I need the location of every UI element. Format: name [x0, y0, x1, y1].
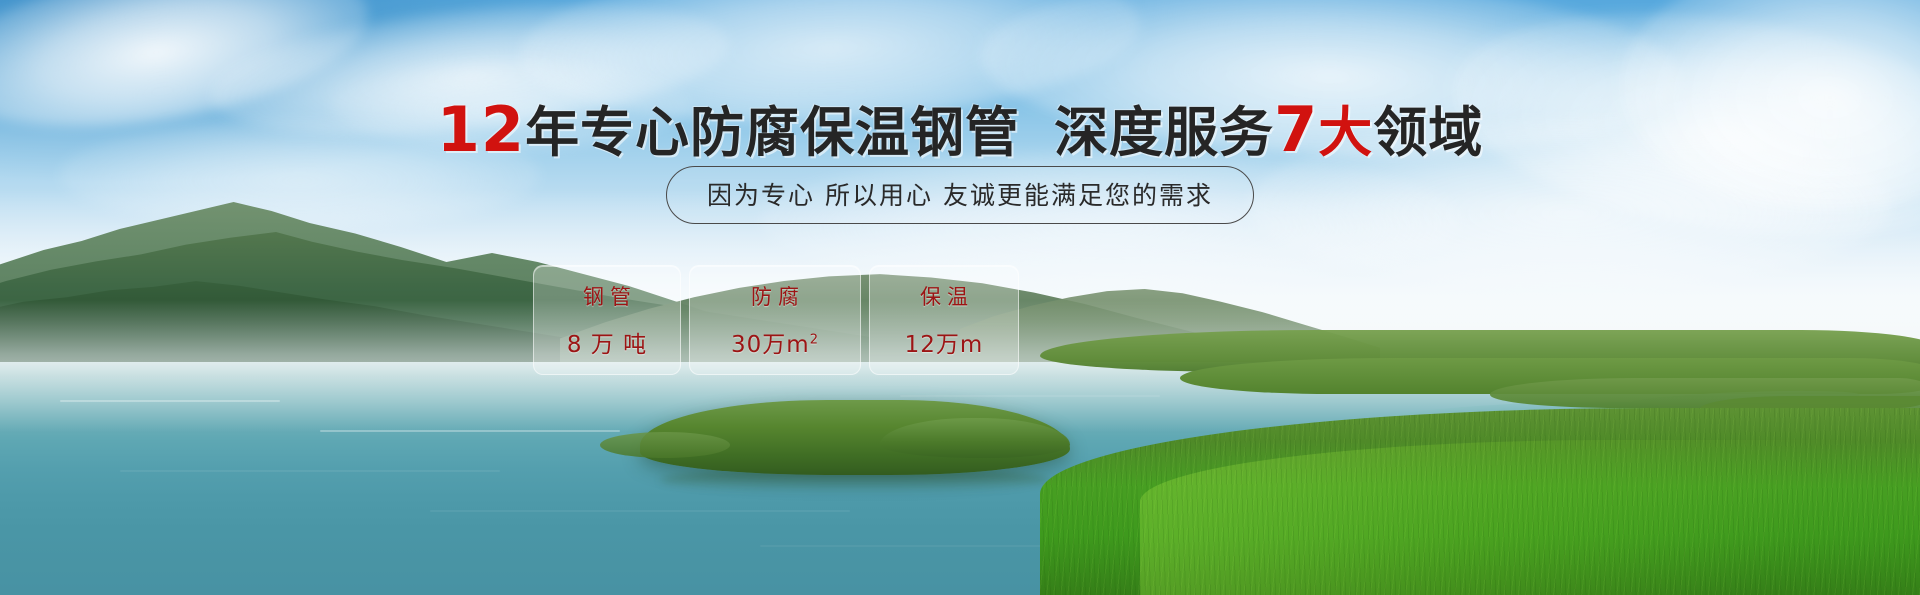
stat-cards: 钢管 8 万 吨 防腐 30万m2 保温 12万m: [533, 265, 1019, 375]
stat-card-value: 30万m2: [731, 325, 819, 359]
stat-card-insulation[interactable]: 保温 12万m: [869, 265, 1019, 375]
headline-text-part3-da: 大: [1318, 101, 1373, 164]
stat-card-title: 防腐: [745, 281, 805, 311]
stat-card-value-sup: 2: [810, 332, 819, 347]
stat-card-value-text: 30万m: [731, 332, 810, 358]
headline: 12年专心防腐保温钢管深度服务7大领域: [0, 88, 1920, 167]
hero-banner: 12年专心防腐保温钢管深度服务7大领域 因为专心 所以用心 友诚更能满足您的需求…: [0, 0, 1920, 595]
stat-card-title: 钢管: [577, 281, 637, 311]
stat-card-value: 12万m: [905, 325, 984, 359]
headline-fields-number: 7: [1274, 93, 1318, 166]
stat-card-title: 保温: [914, 281, 974, 311]
stat-card-value-text: 12万m: [905, 332, 984, 358]
headline-text-part1: 年专心防腐保温钢管: [525, 101, 1020, 164]
headline-years-number: 12: [437, 93, 525, 166]
subtitle-container: 因为专心 所以用心 友诚更能满足您的需求: [0, 166, 1920, 224]
stat-card-value: 8 万 吨: [567, 325, 647, 359]
subtitle-pill: 因为专心 所以用心 友诚更能满足您的需求: [666, 166, 1254, 224]
headline-text-part2: 深度服务: [1054, 101, 1274, 164]
banner-content: 12年专心防腐保温钢管深度服务7大领域 因为专心 所以用心 友诚更能满足您的需求…: [0, 0, 1920, 595]
stat-card-value-text: 8 万 吨: [567, 332, 647, 358]
stat-card-anticorrosion[interactable]: 防腐 30万m2: [689, 265, 861, 375]
headline-text-part3: 领域: [1373, 101, 1483, 164]
stat-card-steel-pipe[interactable]: 钢管 8 万 吨: [533, 265, 681, 375]
